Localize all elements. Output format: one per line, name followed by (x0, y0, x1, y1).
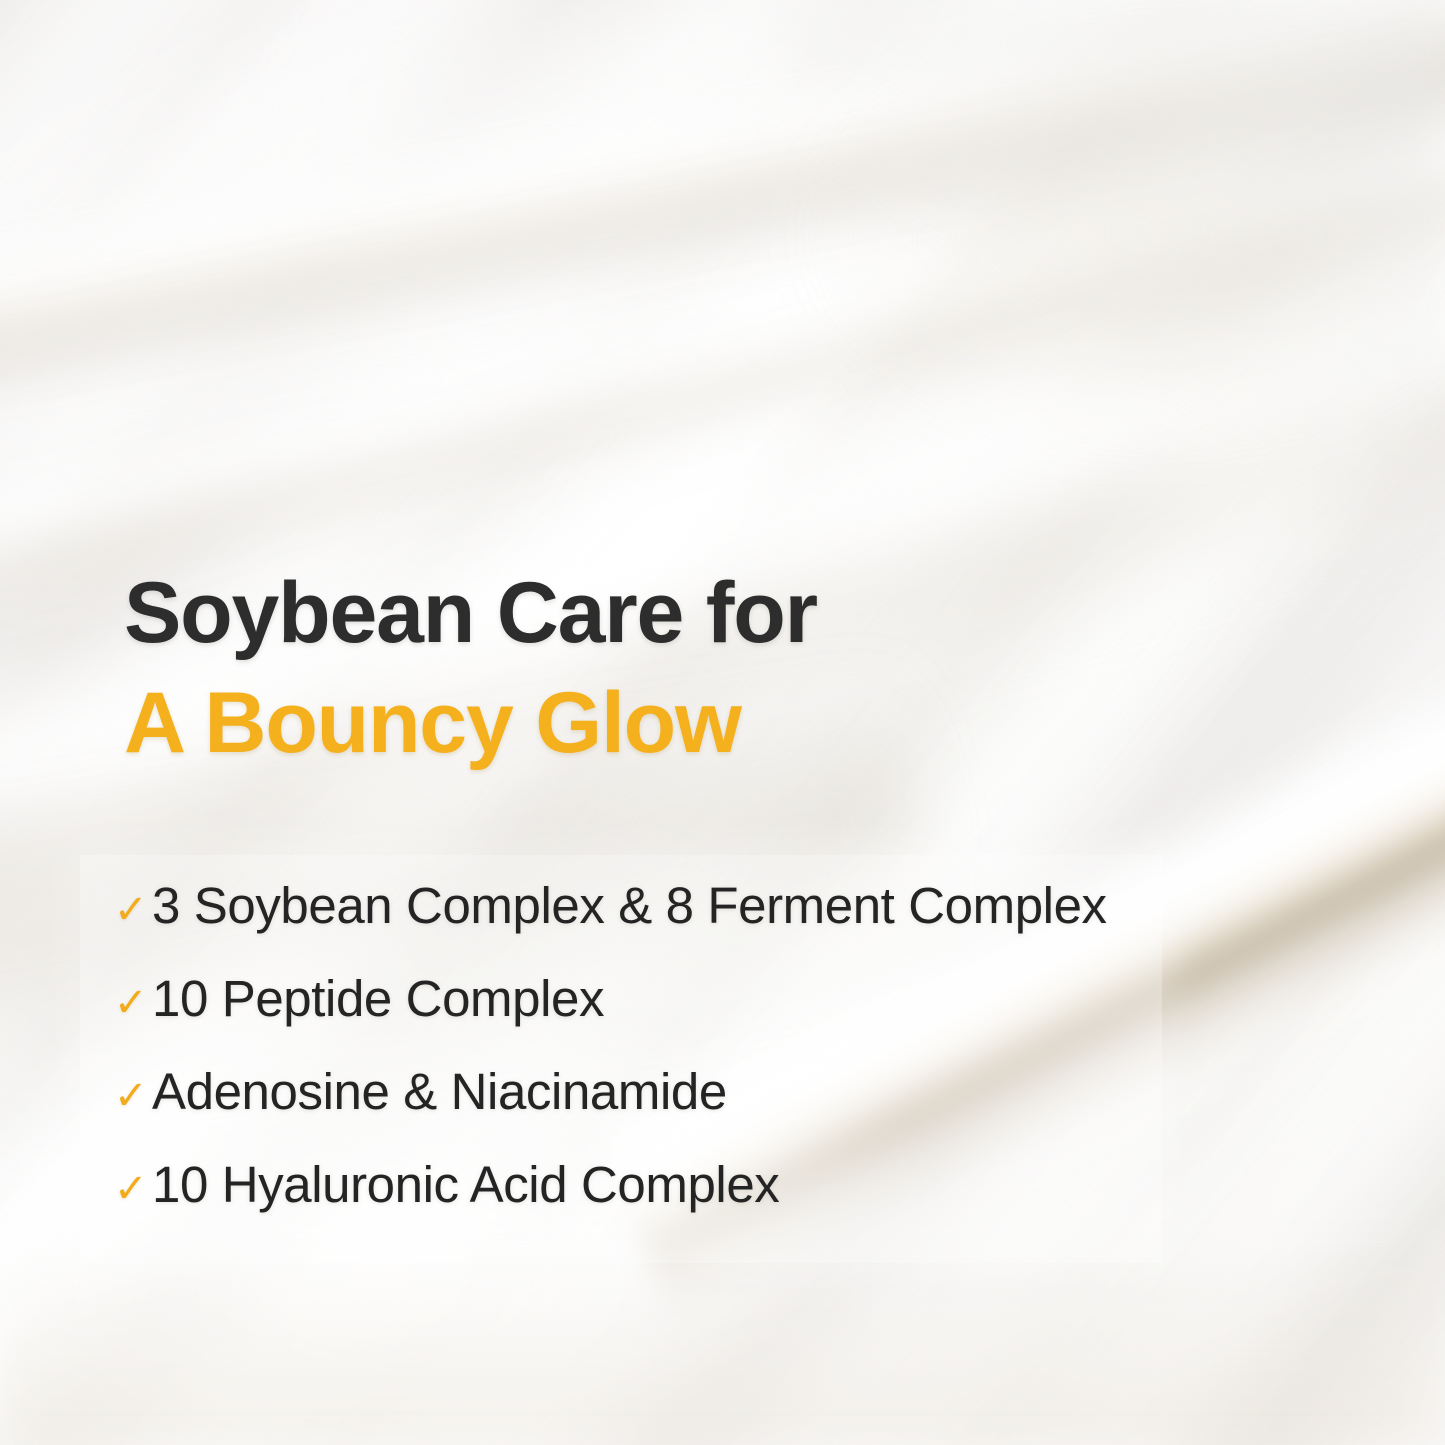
feature-label: 10 Hyaluronic Acid Complex (152, 1159, 779, 1210)
list-item: ✓ 10 Peptide Complex (114, 973, 1214, 1066)
check-icon: ✓ (114, 890, 152, 930)
list-item: ✓ Adenosine & Niacinamide (114, 1066, 1214, 1159)
headline-line-primary: Soybean Care for (124, 558, 1174, 668)
list-item: ✓ 3 Soybean Complex & 8 Ferment Complex (114, 880, 1214, 973)
feature-label: 3 Soybean Complex & 8 Ferment Complex (152, 880, 1107, 931)
check-icon: ✓ (114, 1169, 152, 1209)
cream-glow-bottom-edge (0, 1243, 1445, 1445)
product-banner: Soybean Care for A Bouncy Glow ✓ 3 Soybe… (0, 0, 1445, 1445)
check-icon: ✓ (114, 983, 152, 1023)
headline-block: Soybean Care for A Bouncy Glow (124, 558, 1174, 778)
check-icon: ✓ (114, 1076, 152, 1116)
feature-list: ✓ 3 Soybean Complex & 8 Ferment Complex … (114, 880, 1214, 1252)
cream-cast-top-right (780, 0, 1445, 491)
list-item: ✓ 10 Hyaluronic Acid Complex (114, 1159, 1214, 1252)
feature-label: Adenosine & Niacinamide (152, 1066, 727, 1117)
headline-line-accent: A Bouncy Glow (124, 668, 1174, 778)
feature-label: 10 Peptide Complex (152, 973, 604, 1024)
